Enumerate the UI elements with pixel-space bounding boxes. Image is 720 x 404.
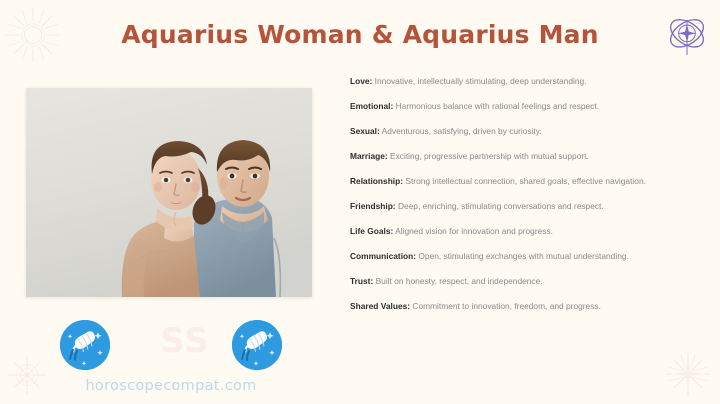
trait-label: Life Goals: bbox=[350, 226, 393, 236]
trait-description: Adventurous, satisfying, driven by curio… bbox=[382, 126, 542, 136]
site-url[interactable]: horoscopecompat.com bbox=[60, 378, 282, 394]
trait-label: Love: bbox=[350, 76, 372, 86]
trait-item: Life Goals: Aligned vision for innovatio… bbox=[350, 227, 700, 237]
trait-label: Emotional: bbox=[350, 101, 393, 111]
trait-description: Aligned vision for innovation and progre… bbox=[395, 226, 553, 236]
page-title: Aquarius Woman & Aquarius Man bbox=[0, 20, 720, 49]
trait-item: Love: Innovative, intellectually stimula… bbox=[350, 77, 700, 87]
trait-description: Open, stimulating exchanges with mutual … bbox=[418, 251, 628, 261]
trait-item: Relationship: Strong intellectual connec… bbox=[350, 177, 700, 187]
trait-item: Friendship: Deep, enriching, stimulating… bbox=[350, 202, 700, 212]
trait-description: Harmonious balance with rational feeling… bbox=[396, 101, 599, 111]
trait-description: Exciting, progressive partnership with m… bbox=[390, 151, 589, 161]
trait-description: Deep, enriching, stimulating conversatio… bbox=[398, 201, 604, 211]
trait-label: Marriage: bbox=[350, 151, 388, 161]
trait-item: Sexual: Adventurous, satisfying, driven … bbox=[350, 127, 700, 137]
compatibility-traits-list: Love: Innovative, intellectually stimula… bbox=[350, 77, 700, 327]
background-watermark: SS bbox=[142, 314, 228, 368]
trait-item: Emotional: Harmonious balance with ratio… bbox=[350, 102, 700, 112]
trait-item: Trust: Built on honesty, respect, and in… bbox=[350, 277, 700, 287]
couple-photo bbox=[26, 88, 312, 297]
trait-description: Commitment to innovation, freedom, and p… bbox=[412, 301, 601, 311]
trait-description: Built on honesty, respect, and independe… bbox=[376, 276, 543, 286]
trait-label: Trust: bbox=[350, 276, 373, 286]
aquarius-zodiac-icon bbox=[232, 320, 282, 370]
trait-description: Innovative, intellectually stimulating, … bbox=[375, 76, 587, 86]
trait-label: Sexual: bbox=[350, 126, 380, 136]
aquarius-zodiac-icon bbox=[60, 320, 110, 370]
trait-item: Shared Values: Commitment to innovation,… bbox=[350, 302, 700, 312]
trait-item: Communication: Open, stimulating exchang… bbox=[350, 252, 700, 262]
trait-item: Marriage: Exciting, progressive partners… bbox=[350, 152, 700, 162]
sparkle-star-icon bbox=[4, 352, 50, 398]
trait-label: Shared Values: bbox=[350, 301, 410, 311]
sparkle-star-icon bbox=[664, 350, 712, 398]
trait-label: Friendship: bbox=[350, 201, 396, 211]
trait-label: Relationship: bbox=[350, 176, 403, 186]
trait-label: Communication: bbox=[350, 251, 416, 261]
trait-description: Strong intellectual connection, shared g… bbox=[405, 176, 646, 186]
